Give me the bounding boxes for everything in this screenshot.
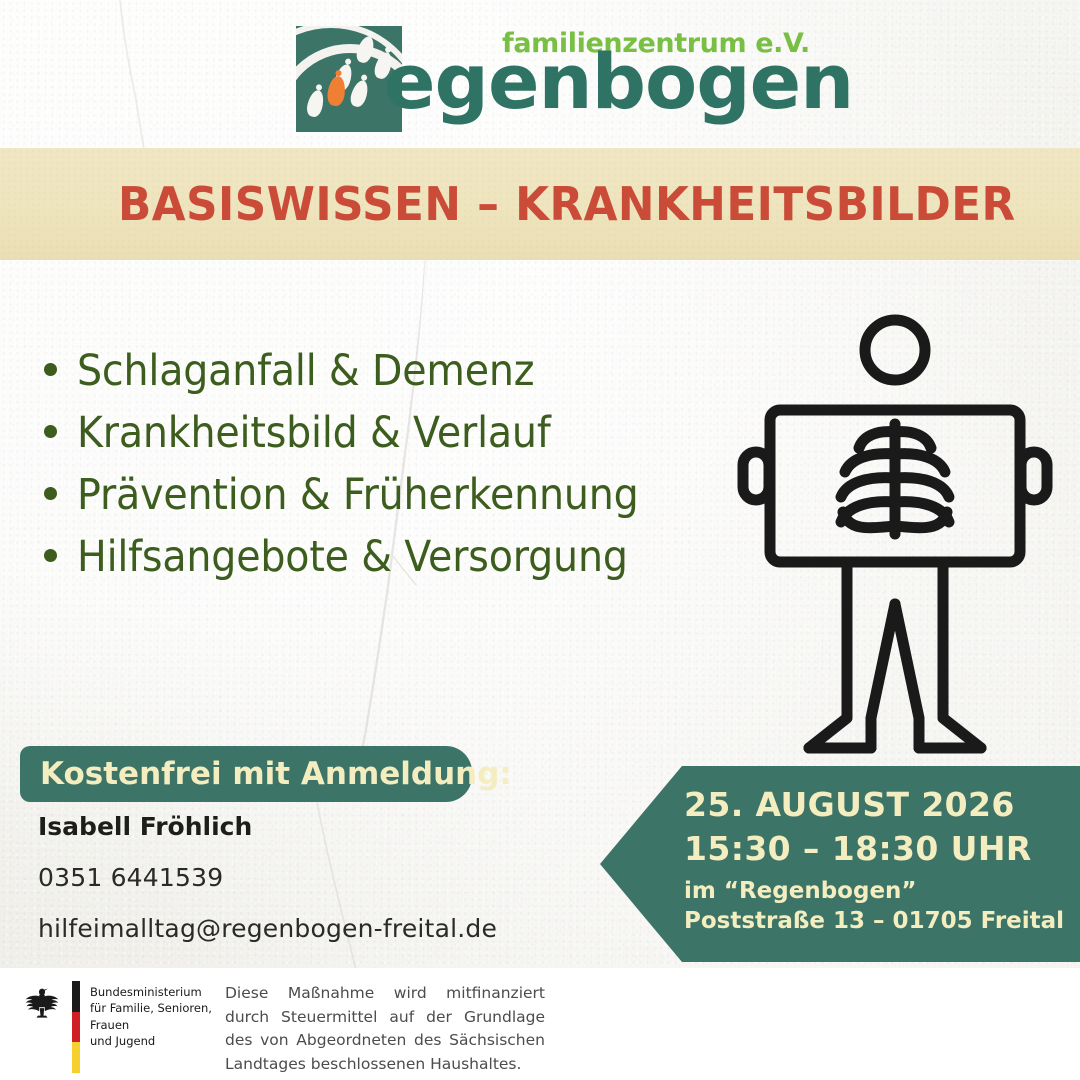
event-venue: im “Regenbogen” <box>684 877 1080 907</box>
logo-wordmark: egenbogen <box>384 44 853 120</box>
bullet-dot-icon <box>44 549 57 562</box>
list-item-label: Schlaganfall & Demenz <box>77 344 534 399</box>
brand-header: familienzentrum e.V. egenbogen <box>0 18 1080 142</box>
list-item-label: Prävention & Früherkennung <box>77 468 639 523</box>
list-item: Schlaganfall & Demenz <box>44 344 744 399</box>
registration-pill-label: Kostenfrei mit Anmeldung: <box>40 756 512 792</box>
logo-lockup[interactable]: familienzentrum e.V. egenbogen <box>296 22 776 146</box>
event-details-banner: 25. AUGUST 2026 15:30 – 18:30 UHR im “Re… <box>600 766 1080 962</box>
ministry-line-3: und Jugend <box>90 1033 240 1049</box>
bullet-dot-icon <box>44 363 57 376</box>
event-address: Poststraße 13 – 01705 Freital <box>684 907 1080 937</box>
bundesadler-eagle-icon <box>24 984 60 1018</box>
list-item: Hilfsangebote & Versorgung <box>44 530 744 585</box>
contact-person-name: Isabell Fröhlich <box>38 812 598 841</box>
xray-person-icon <box>735 312 1055 772</box>
page-title: BASISWISSEN – KRANKHEITSBILDER <box>118 177 1016 231</box>
event-time: 15:30 – 18:30 UHR <box>684 828 1080 870</box>
bullet-dot-icon <box>44 425 57 438</box>
contact-block: Isabell Fröhlich 0351 6441539 hilfeimall… <box>38 812 598 965</box>
bmfsfj-logo: Bundesministerium für Familie, Senioren,… <box>18 978 213 1073</box>
poster-canvas: familienzentrum e.V. egenbogen BASISWISS… <box>0 0 1080 1080</box>
title-banner: BASISWISSEN – KRANKHEITSBILDER <box>0 148 1080 260</box>
list-item-label: Hilfsangebote & Versorgung <box>77 530 628 585</box>
contact-email[interactable]: hilfeimalltag@regenbogen-freital.de <box>38 914 598 943</box>
ministry-line-1: Bundesministerium <box>90 984 240 1000</box>
ministry-name: Bundesministerium für Familie, Senioren,… <box>90 984 240 1049</box>
german-flag-bar-icon <box>72 981 80 1073</box>
topics-list: Schlaganfall & Demenz Krankheitsbild & V… <box>44 344 744 592</box>
sponsor-footer: Bundesministerium für Familie, Senioren,… <box>0 968 1080 1080</box>
list-item: Prävention & Früherkennung <box>44 468 744 523</box>
contact-phone[interactable]: 0351 6441539 <box>38 863 598 892</box>
logo-wordmark-group: familienzentrum e.V. egenbogen <box>384 22 784 146</box>
registration-pill: Kostenfrei mit Anmeldung: <box>20 746 472 802</box>
list-item-label: Krankheitsbild & Verlauf <box>77 406 551 461</box>
event-date: 25. AUGUST 2026 <box>684 784 1080 826</box>
ministry-line-2: für Familie, Senioren, Frauen <box>90 1000 240 1033</box>
funding-note: Diese Maßnahme wird mitfinanziert durch … <box>225 982 545 1076</box>
list-item: Krankheitsbild & Verlauf <box>44 406 744 461</box>
bullet-dot-icon <box>44 487 57 500</box>
